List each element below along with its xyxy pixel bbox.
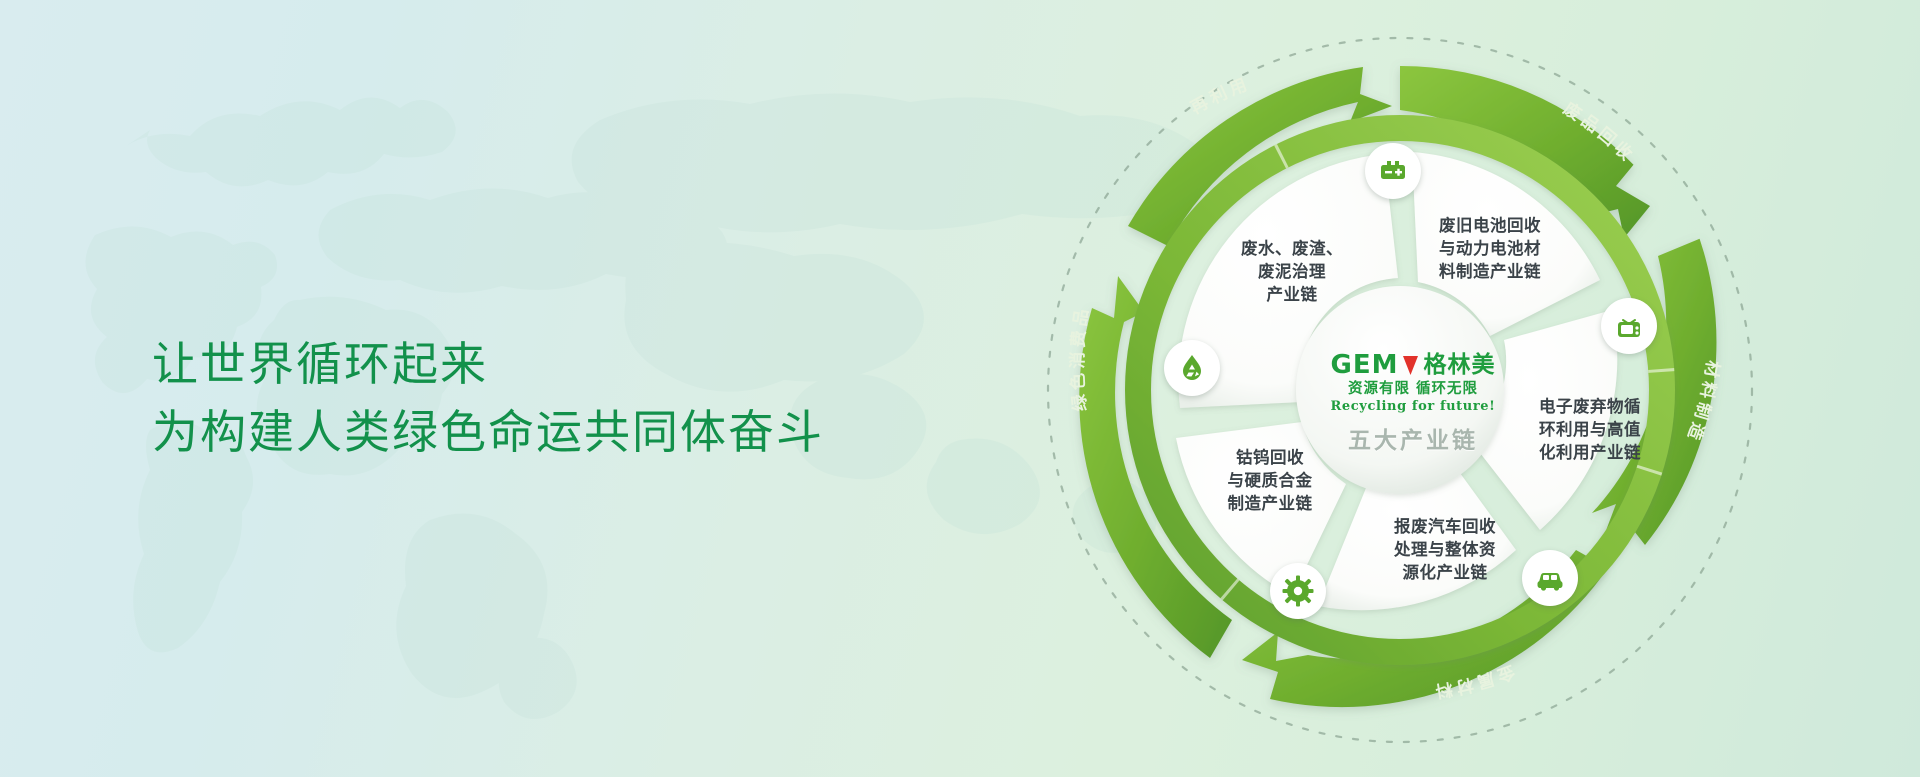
brand-logo: GEM 格林美 资源有限 循环无限 Recycling for future! … [1318, 352, 1508, 453]
segment-label-ewaste: 电子废弃物循 环利用与高值 化利用产业链 [1510, 395, 1670, 464]
icon-bubble-recycle-drop[interactable] [1164, 340, 1220, 396]
icon-bubble-gear[interactable] [1270, 563, 1326, 619]
icon-bubble-television[interactable] [1601, 298, 1657, 354]
page-title: 让世界循环起来 为构建人类绿色命运共同体奋斗 [152, 330, 824, 466]
brand-latin-text: GEM [1331, 352, 1399, 378]
headline-line-2: 为构建人类绿色命运共同体奋斗 [152, 398, 824, 466]
leaf-mark-icon [1403, 356, 1418, 375]
center-subtitle: 五大产业链 [1318, 430, 1508, 453]
banner-stage: 让世界循环起来 为构建人类绿色命运共同体奋斗 [0, 0, 1920, 777]
brand-tagline: 资源有限 循环无限 [1318, 382, 1508, 398]
icon-bubble-car[interactable] [1522, 550, 1578, 606]
battery-icon [1378, 156, 1408, 186]
television-icon [1614, 311, 1644, 341]
segment-label-cobalt: 钴钨回收 与硬质合金 制造产业链 [1190, 446, 1350, 515]
segment-label-vehicle: 报废汽车回收 处理与整体资 源化产业链 [1365, 515, 1525, 584]
segment-label-battery: 废旧电池回收 与动力电池材 料制造产业链 [1410, 214, 1570, 283]
brand-tagline-en: Recycling for future! [1318, 400, 1508, 414]
segment-label-water: 废水、废渣、 废泥治理 产业链 [1212, 237, 1372, 306]
brand-cn-text: 格林美 [1423, 354, 1495, 377]
headline-line-1: 让世界循环起来 [152, 330, 824, 398]
car-icon [1534, 562, 1566, 594]
gear-icon [1282, 575, 1314, 607]
recycle-drop-icon [1176, 352, 1208, 384]
icon-bubble-battery[interactable] [1365, 143, 1421, 199]
